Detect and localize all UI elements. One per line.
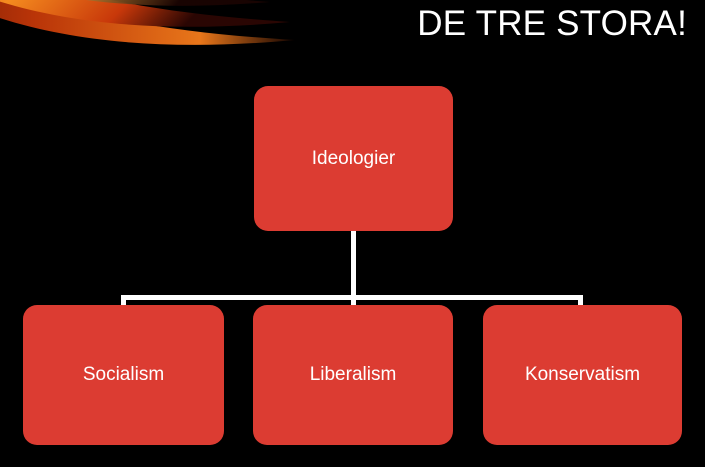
diagram-node-socialism-label: Socialism — [83, 364, 164, 386]
diagram-node-konservatism-label: Konservatism — [525, 364, 640, 386]
orange-swoosh-decoration — [0, 0, 300, 60]
slide-title: DE TRE STORA! — [417, 2, 687, 46]
slide-canvas: DE TRE STORA! Ideologier Socialism Liber… — [0, 0, 705, 467]
connector-root-vertical — [351, 231, 356, 299]
diagram-node-root[interactable]: Ideologier — [254, 86, 453, 231]
diagram-node-socialism[interactable]: Socialism — [23, 305, 224, 445]
diagram-node-liberalism-label: Liberalism — [310, 364, 397, 386]
diagram-node-root-label: Ideologier — [312, 148, 395, 170]
diagram-node-konservatism[interactable]: Konservatism — [483, 305, 682, 445]
diagram-node-liberalism[interactable]: Liberalism — [253, 305, 453, 445]
